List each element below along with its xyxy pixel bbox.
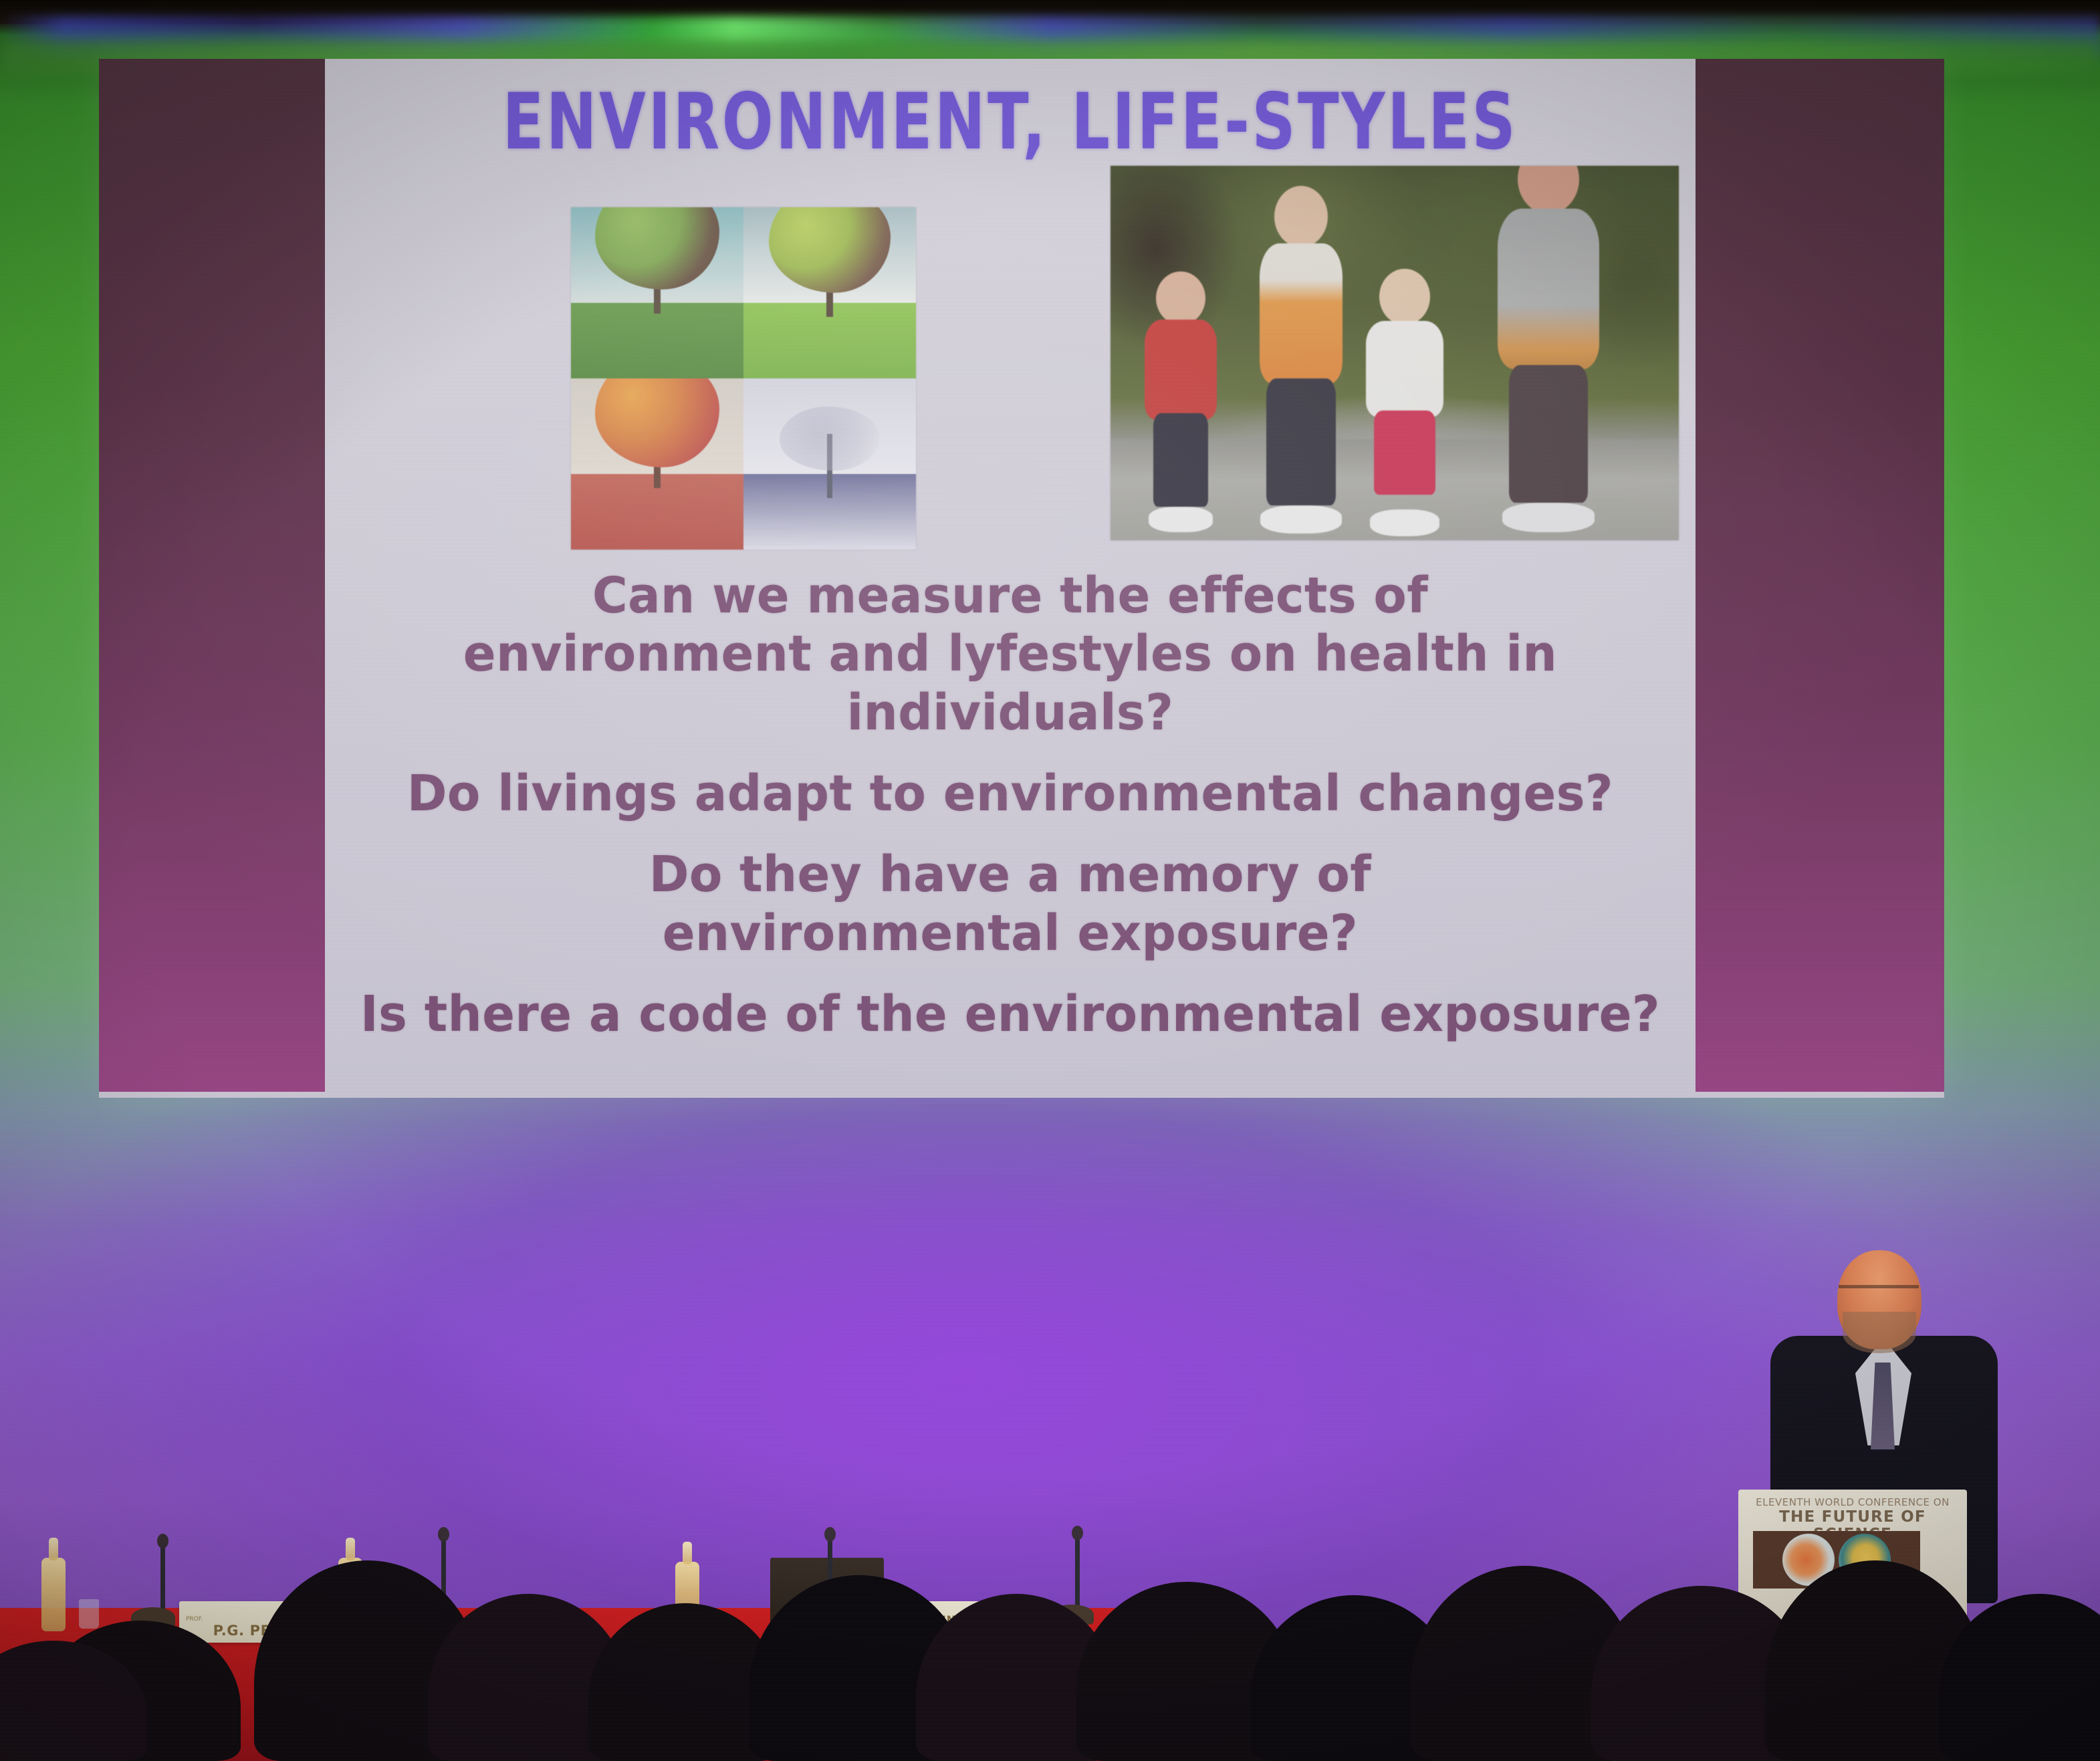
slide-title: ENVIRONMENT, LIFE-STYLES <box>380 78 1641 168</box>
season-quadrant-autumn <box>571 378 743 550</box>
nameplate-prefix: PROF. <box>186 1616 203 1623</box>
runner-father <box>1475 166 1622 532</box>
slide-right-band <box>1696 59 1944 1092</box>
family-jogging-image <box>1111 166 1679 540</box>
slide-question-line-6: Is there a code of the environmental exp… <box>352 985 1668 1044</box>
speaker-beard <box>1843 1312 1916 1353</box>
slide-question-line-4: Do they have a memory of <box>352 846 1668 904</box>
conference-hall-scene: ENVIRONMENT, LIFE-STYLES <box>0 0 2100 1761</box>
slide-question-list: Can we measure the effects of environmen… <box>332 567 1689 1044</box>
glasses-icon <box>1839 1285 1919 1300</box>
runner-girl <box>1131 271 1231 532</box>
season-quadrant-summer <box>743 207 916 378</box>
slide-question-line-2: environment and lyfestyles on health in … <box>352 625 1668 742</box>
podium-sign-kicker: ELEVENTH WORLD CONFERENCE ON <box>1738 1496 1967 1508</box>
slide-question-line-3: Do livings adapt to environmental change… <box>352 765 1668 823</box>
drinking-glass <box>79 1599 99 1629</box>
water-bottle <box>41 1558 66 1631</box>
slide-left-band <box>99 59 325 1092</box>
projection-screen: ENVIRONMENT, LIFE-STYLES <box>99 59 1944 1098</box>
season-quadrant-spring <box>571 207 743 378</box>
slide-content: ENVIRONMENT, LIFE-STYLES <box>325 59 1696 1098</box>
runner-mother <box>1234 186 1368 534</box>
slide-question-line-5: environmental exposure? <box>352 905 1668 963</box>
slide-question-line-1: Can we measure the effects of <box>352 567 1668 625</box>
runner-child <box>1351 269 1458 536</box>
four-seasons-trees-image <box>571 207 916 550</box>
season-quadrant-winter <box>743 378 916 550</box>
